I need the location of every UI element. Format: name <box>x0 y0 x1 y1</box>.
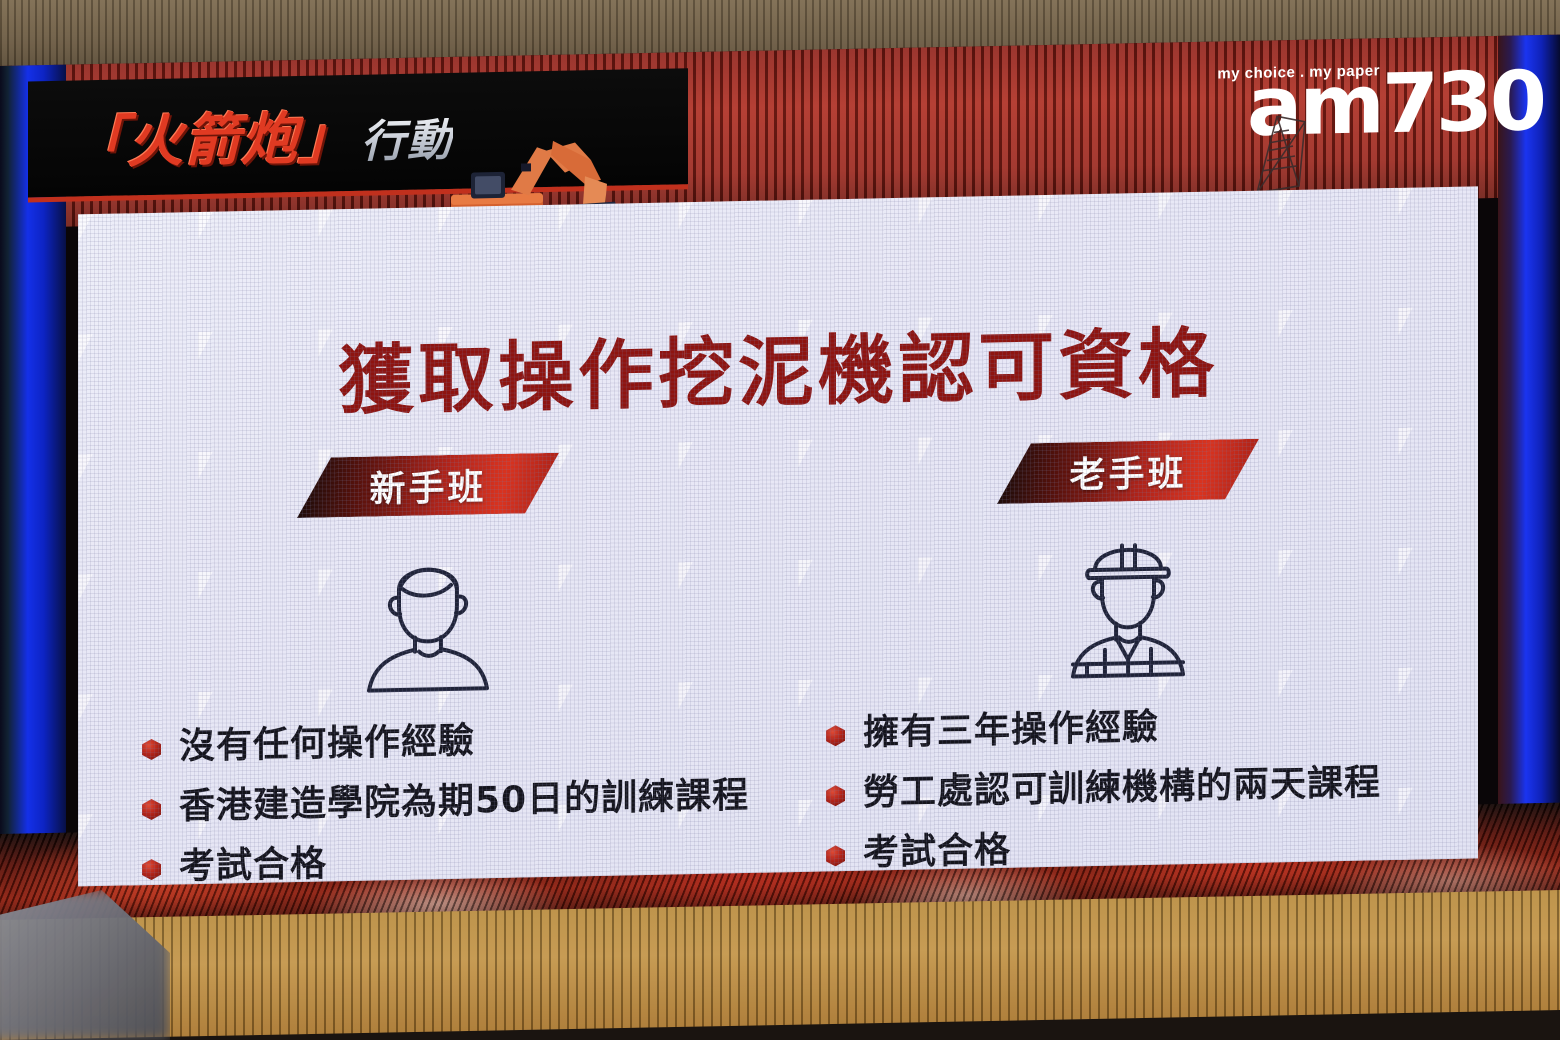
bullet-text: 勞工處認可訓練機構的兩天課程 <box>863 760 1381 816</box>
presentation-slide: 獲取操作挖泥機認可資格 新手班 <box>78 186 1478 886</box>
slide-title: 獲取操作挖泥機認可資格 <box>78 296 1478 434</box>
hexagon-bullet-icon <box>826 845 845 866</box>
tower-crane-icon <box>1243 107 1329 195</box>
bullet-text: 擁有三年操作經驗 <box>863 705 1159 757</box>
column-beginner: 新手班 <box>78 448 778 906</box>
screenshot-stage: 「火箭炮」 行動 <box>0 0 1560 1040</box>
bullet-item: 擁有三年操作經驗 <box>826 698 1478 757</box>
hexagon-bullet-icon <box>142 799 161 820</box>
person-avatar-icon <box>343 536 513 699</box>
bullet-list-experienced: 擁有三年操作經驗 勞工處認可訓練機構的兩天課程 考試合格 <box>778 698 1478 878</box>
bullet-item: 沒有任何操作經驗 <box>142 712 778 771</box>
bullet-item: 香港建造學院為期50日的訓練課程 <box>142 772 778 831</box>
hexagon-bullet-icon <box>826 785 845 806</box>
bullet-list-beginner: 沒有任何操作經驗 香港建造學院為期50日的訓練課程 考試合格 <box>78 712 778 892</box>
column-experienced: 老手班 <box>778 434 1478 892</box>
bullet-text: 香港建造學院為期50日的訓練課程 <box>179 773 749 831</box>
slide-columns: 新手班 <box>78 434 1478 906</box>
led-video-wall: 「火箭炮」 行動 <box>0 35 1560 946</box>
campaign-title-text: 「火箭炮」 行動 <box>70 91 453 180</box>
bullet-text: 沒有任何操作經驗 <box>179 718 475 770</box>
bullet-text: 考試合格 <box>179 842 327 891</box>
construction-worker-icon <box>1043 522 1213 685</box>
bullet-item: 勞工處認可訓練機構的兩天課程 <box>826 758 1478 817</box>
category-banner-label: 老手班 <box>1069 444 1186 498</box>
category-banner-beginner: 新手班 <box>297 453 559 518</box>
hexagon-bullet-icon <box>826 725 845 746</box>
bullet-item: 考試合格 <box>826 818 1478 877</box>
campaign-bracket-label: 「火箭炮」 <box>70 93 355 180</box>
hexagon-bullet-icon <box>142 859 161 880</box>
hexagon-bullet-icon <box>142 739 161 760</box>
am730-watermark: my choice . my paper am730 <box>1217 59 1544 146</box>
bullet-text: 考試合格 <box>863 828 1011 877</box>
category-banner-experienced: 老手班 <box>997 439 1259 504</box>
category-banner-label: 新手班 <box>369 458 486 512</box>
led-blue-edge-right <box>1498 35 1560 916</box>
bullet-item: 考試合格 <box>142 833 778 892</box>
